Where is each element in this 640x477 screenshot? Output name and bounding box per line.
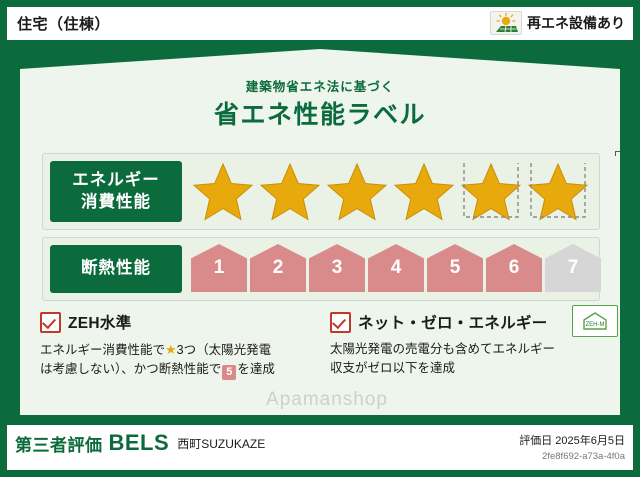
- energy-consumption-label: エネルギー 消費性能: [50, 161, 182, 222]
- net-zero-energy-title: ネット・ゼロ・エネルギー: [358, 311, 548, 333]
- insulation-grade-value: 4: [391, 257, 402, 279]
- insulation-grade-chip: 5: [427, 244, 483, 292]
- insulation-grade-scale: 1 2 3 4 5: [191, 244, 601, 292]
- insulation-grade-inline: 5: [222, 365, 236, 380]
- insulation-performance-label: 断熱性能: [50, 245, 182, 293]
- net-zero-energy-block: ネット・ゼロ・エネルギー ZEH-M 太陽光発電の売電分も含めてエネルギー 収支…: [330, 311, 610, 379]
- label-footer: 第三者評価 BELS 西町SUZUKAZE 評価日 2025年6月5日 2fe8…: [7, 425, 633, 470]
- insulation-grade-chip: 4: [368, 244, 424, 292]
- star-icon: [392, 161, 456, 222]
- star-icon: [325, 161, 389, 222]
- third-party-eval-text: 第三者評価: [15, 431, 103, 456]
- net-zero-energy-description: 太陽光発電の売電分も含めてエネルギー 収支がゼロ以下を達成: [330, 340, 610, 379]
- insulation-grade-value: 2: [273, 257, 284, 279]
- solar-portion-bracket: 太陽光発電(自家消費)分: [611, 138, 640, 162]
- energy-performance-label: 住宅（住棟）: [0, 0, 640, 477]
- label-subtitle: 建築物省エネ法に基づく: [20, 76, 620, 95]
- insulation-grade-chip: 3: [309, 244, 365, 292]
- insulation-grade-value: 5: [450, 257, 461, 279]
- zeh-house-icon: ZEH-M: [580, 311, 610, 331]
- insulation-grade-chip: 2: [250, 244, 306, 292]
- insulation-grade-value: 7: [568, 257, 579, 279]
- check-icon: [40, 312, 61, 333]
- insulation-grade-value: 1: [214, 257, 225, 279]
- solar-portion-note: 太陽光発電(自家消費)分: [611, 136, 640, 149]
- house-type-text: 住宅（住棟）: [17, 13, 110, 34]
- insulation-grade-chip: 6: [486, 244, 542, 292]
- nze-desc-part-a: 太陽光発電の売電分も含めてエネルギー: [330, 342, 555, 356]
- sun-icon: [490, 11, 522, 35]
- explanation-area: ZEH水準 エネルギー消費性能で★3つ（太陽光発電 は考慮しない）、かつ断熱性能…: [20, 311, 620, 411]
- label-body: 建築物省エネ法に基づく 省エネ性能ラベル エネルギー 消費性能 太陽光発電(自家…: [7, 40, 633, 425]
- zeh-m-badge: ZEH-M: [572, 305, 618, 337]
- insulation-grade-value: 3: [332, 257, 343, 279]
- bracket-tick-left: [615, 151, 616, 156]
- star-icon: [191, 161, 255, 222]
- renewable-equipment-badge: 再エネ設備あり: [490, 11, 625, 35]
- star-icon-solar: [459, 161, 523, 222]
- zeh-standard-description: エネルギー消費性能で★3つ（太陽光発電 は考慮しない）、かつ断熱性能で5を達成: [40, 340, 320, 380]
- zeh-desc-part-c: は考慮しない）、かつ断熱性能で: [40, 362, 221, 376]
- svg-text:ZEH-M: ZEH-M: [586, 322, 605, 328]
- insulation-grade-chip-inactive: 7: [545, 244, 601, 292]
- zeh-desc-part-b: 3つ（太陽光発電: [177, 343, 271, 357]
- bels-logo-text: BELS: [109, 430, 170, 456]
- label-header: 住宅（住棟）: [7, 7, 633, 40]
- energy-consumption-label-line2: 消費性能: [81, 192, 151, 213]
- renewable-equipment-text: 再エネ設備あり: [527, 13, 625, 33]
- insulation-performance-row: 断熱性能 1 2 3 4: [42, 237, 600, 301]
- building-name-text: 西町SUZUKAZE: [177, 435, 265, 452]
- star-icon: [258, 161, 322, 222]
- star-icon-inline: ★: [165, 342, 177, 357]
- star-icon-solar: [526, 161, 590, 222]
- bracket-line: [615, 151, 640, 152]
- house-shape-panel: 建築物省エネ法に基づく 省エネ性能ラベル エネルギー 消費性能 太陽光発電(自家…: [20, 49, 620, 415]
- evaluation-date: 評価日 2025年6月5日: [519, 432, 625, 448]
- net-zero-energy-heading: ネット・ゼロ・エネルギー ZEH-M: [330, 311, 610, 333]
- zeh-standard-heading: ZEH水準: [40, 311, 320, 333]
- evaluation-id: 2fe8f692-a73a-4f0a: [519, 451, 625, 462]
- energy-consumption-row: エネルギー 消費性能 太陽光発電(自家消費)分: [42, 153, 600, 230]
- check-icon: [330, 312, 351, 333]
- zeh-desc-part-a: エネルギー消費性能で: [40, 343, 165, 357]
- zeh-standard-block: ZEH水準 エネルギー消費性能で★3つ（太陽光発電 は考慮しない）、かつ断熱性能…: [40, 311, 320, 380]
- zeh-desc-part-d: を達成: [237, 362, 275, 376]
- nze-desc-part-b: 収支がゼロ以下を達成: [330, 361, 455, 375]
- energy-consumption-label-line1: エネルギー: [72, 170, 160, 191]
- insulation-grade-chip: 1: [191, 244, 247, 292]
- energy-star-rating: 太陽光発電(自家消費)分: [191, 160, 591, 223]
- insulation-grade-value: 6: [509, 257, 520, 279]
- label-title: 省エネ性能ラベル: [20, 95, 620, 131]
- bels-certification: 第三者評価 BELS 西町SUZUKAZE: [15, 430, 265, 456]
- zeh-standard-title: ZEH水準: [68, 311, 132, 333]
- evaluation-info: 評価日 2025年6月5日 2fe8f692-a73a-4f0a: [519, 432, 625, 462]
